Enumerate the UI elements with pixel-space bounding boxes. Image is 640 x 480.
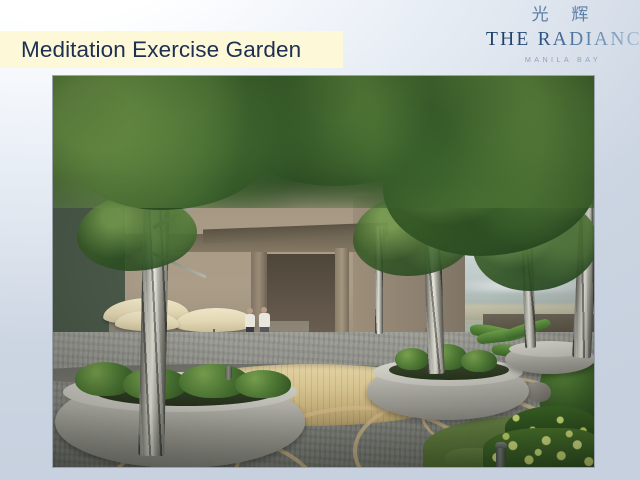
garden-rendering-image	[52, 75, 595, 468]
planter-shrub	[461, 350, 497, 372]
presentation-slide: Meditation Exercise Garden 光 辉 THE RADIA…	[0, 0, 640, 480]
rendering-canvas	[53, 76, 594, 467]
logo-chinese-name: 光 辉	[480, 4, 640, 25]
bollard-light	[225, 366, 232, 380]
planter-shrub	[395, 348, 429, 370]
page-title: Meditation Exercise Garden	[21, 34, 341, 65]
brand-logo: 光 辉 THE RADIANCE MANILA BAY	[480, 4, 640, 66]
tree-canopy-overhead	[53, 76, 594, 208]
bollard-light	[496, 446, 506, 467]
bollard-light-cap	[495, 442, 507, 448]
planter-shrub	[235, 370, 291, 398]
logo-location: MANILA BAY	[486, 54, 640, 66]
wall-pillar	[335, 248, 349, 344]
logo-brand-name: THE RADIANCE	[486, 29, 640, 51]
